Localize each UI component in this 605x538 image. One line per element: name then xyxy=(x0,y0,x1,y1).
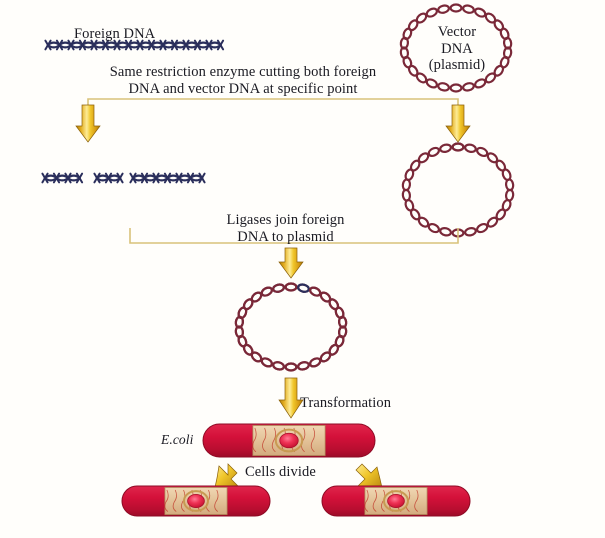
ecoli-cell xyxy=(203,424,375,457)
label-ligases: Ligases join foreign DNA to plasmid xyxy=(168,212,403,245)
bracket-restriction xyxy=(88,99,458,107)
label-cells-divide: Cells divide xyxy=(245,464,316,481)
label-restriction-enzyme: Same restriction enzyme cutting both for… xyxy=(78,64,408,97)
label-ecoli: E.coli xyxy=(161,432,193,448)
recombinant-plasmid xyxy=(235,283,346,370)
cut-fragment-long-right xyxy=(130,174,204,183)
diagram-canvas: Foreign DNA Vector DNA (plasmid) Same re… xyxy=(0,0,605,538)
daughter-cell-left xyxy=(122,486,270,516)
arrow-cut-right xyxy=(446,105,470,142)
label-vector-dna: Vector DNA (plasmid) xyxy=(414,24,500,74)
opened-plasmid xyxy=(402,144,513,237)
cut-fragment-small-left xyxy=(42,174,82,183)
arrow-cut-left xyxy=(76,105,100,142)
daughter-cell-right xyxy=(322,486,470,516)
label-transformation: Transformation xyxy=(300,395,391,412)
label-foreign-dna: Foreign DNA xyxy=(74,26,155,43)
arrow-ligate xyxy=(279,248,303,278)
cut-fragment-tiny-middle xyxy=(94,174,122,183)
